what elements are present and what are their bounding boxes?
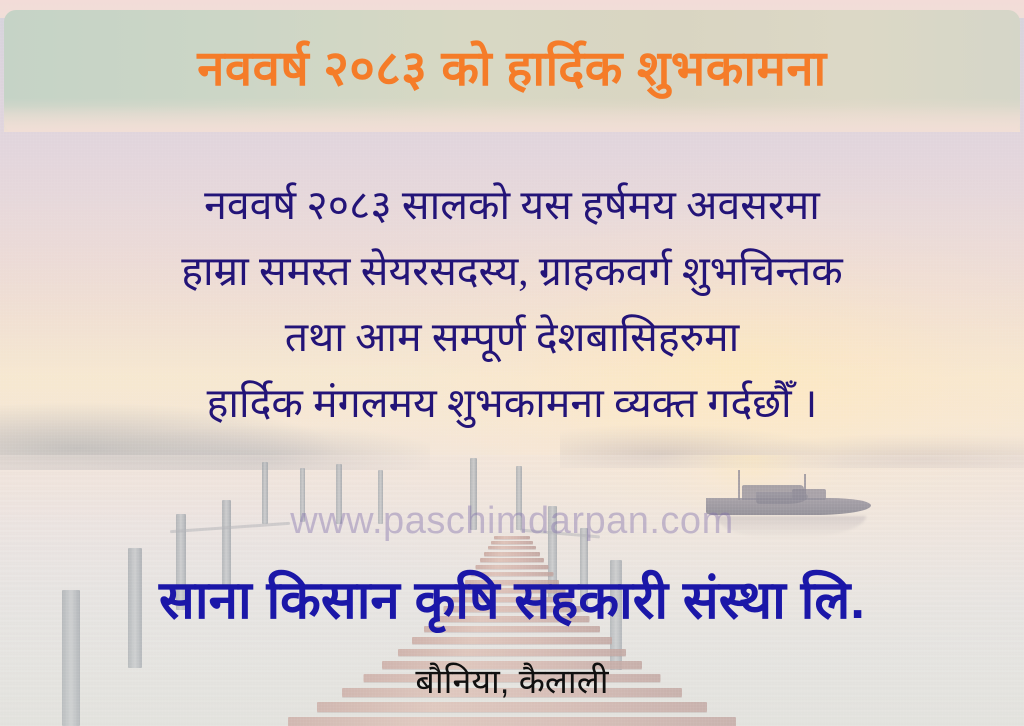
greeting-card: नववर्ष २०८३ को हार्दिक शुभकामना नववर्ष २… [0, 0, 1024, 726]
page-title: नववर्ष २०८३ को हार्दिक शुभकामना [0, 38, 1024, 100]
message-line-4: हार्दिक मंगलमय शुभकामना व्यक्त गर्दछौँ । [0, 370, 1024, 436]
organization-name: साना किसान कृषि सहकारी संस्था लि. [0, 566, 1024, 636]
message-line-2: हाम्रा समस्त सेयरसदस्य, ग्राहकवर्ग शुभचि… [0, 238, 1024, 304]
message-line-1: नववर्ष २०८३ सालको यस हर्षमय अवसरमा [0, 172, 1024, 238]
greeting-message: नववर्ष २०८३ सालको यस हर्षमय अवसरमा हाम्र… [0, 172, 1024, 436]
organization-address: बौनिया, कैलाली [0, 658, 1024, 706]
site-watermark: www.paschimdarpan.com [0, 500, 1024, 543]
message-line-3: तथा आम सम्पूर्ण देशबासिहरुमा [0, 304, 1024, 370]
